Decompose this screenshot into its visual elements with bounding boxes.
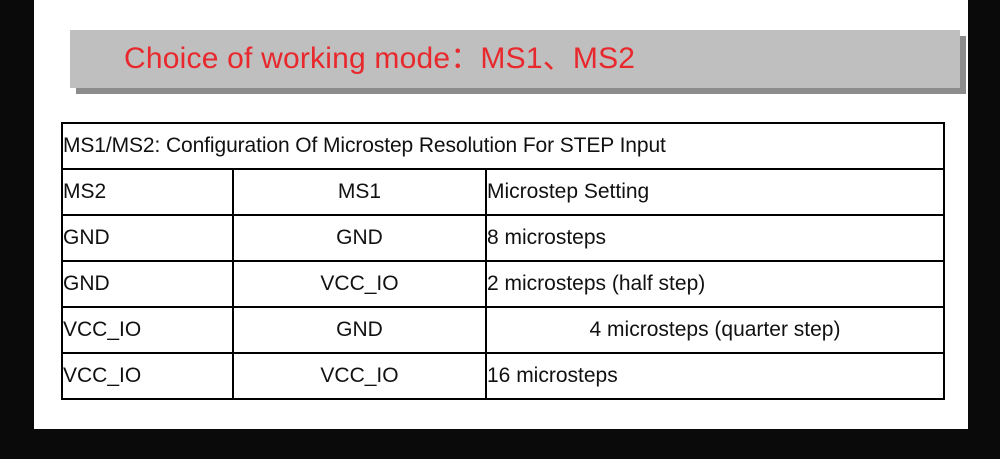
cell-microstep-setting: 2 microsteps (half step) (486, 261, 944, 307)
cell-ms2: VCC_IO (62, 353, 233, 399)
table-caption: MS1/MS2: Configuration Of Microstep Reso… (62, 123, 944, 169)
table-row: GND GND 8 microsteps (62, 215, 944, 261)
table-caption-row: MS1/MS2: Configuration Of Microstep Reso… (62, 123, 944, 169)
cell-ms1: VCC_IO (233, 353, 486, 399)
microstep-configuration-table: MS1/MS2: Configuration Of Microstep Reso… (61, 122, 945, 400)
cell-ms1: VCC_IO (233, 261, 486, 307)
cell-microstep-setting: 16 microsteps (486, 353, 944, 399)
slide-stage: Choice of working mode：MS1、MS2 MS1/MS2: … (0, 0, 1000, 459)
cell-ms1: GND (233, 215, 486, 261)
cell-ms2: GND (62, 261, 233, 307)
title-banner: Choice of working mode：MS1、MS2 (70, 30, 960, 88)
cell-microstep-setting: 4 microsteps (quarter step) (486, 307, 944, 353)
slide-canvas: Choice of working mode：MS1、MS2 MS1/MS2: … (34, 0, 968, 429)
cell-microstep-setting: 8 microsteps (486, 215, 944, 261)
column-header-microstep-setting: Microstep Setting (486, 169, 944, 215)
cell-ms2: GND (62, 215, 233, 261)
cell-ms2: VCC_IO (62, 307, 233, 353)
page-title: Choice of working mode：MS1、MS2 (124, 44, 635, 74)
column-header-ms2: MS2 (62, 169, 233, 215)
cell-ms1: GND (233, 307, 486, 353)
table-row: VCC_IO VCC_IO 16 microsteps (62, 353, 944, 399)
table-row: GND VCC_IO 2 microsteps (half step) (62, 261, 944, 307)
table-header-row: MS2 MS1 Microstep Setting (62, 169, 944, 215)
table-row: VCC_IO GND 4 microsteps (quarter step) (62, 307, 944, 353)
column-header-ms1: MS1 (233, 169, 486, 215)
